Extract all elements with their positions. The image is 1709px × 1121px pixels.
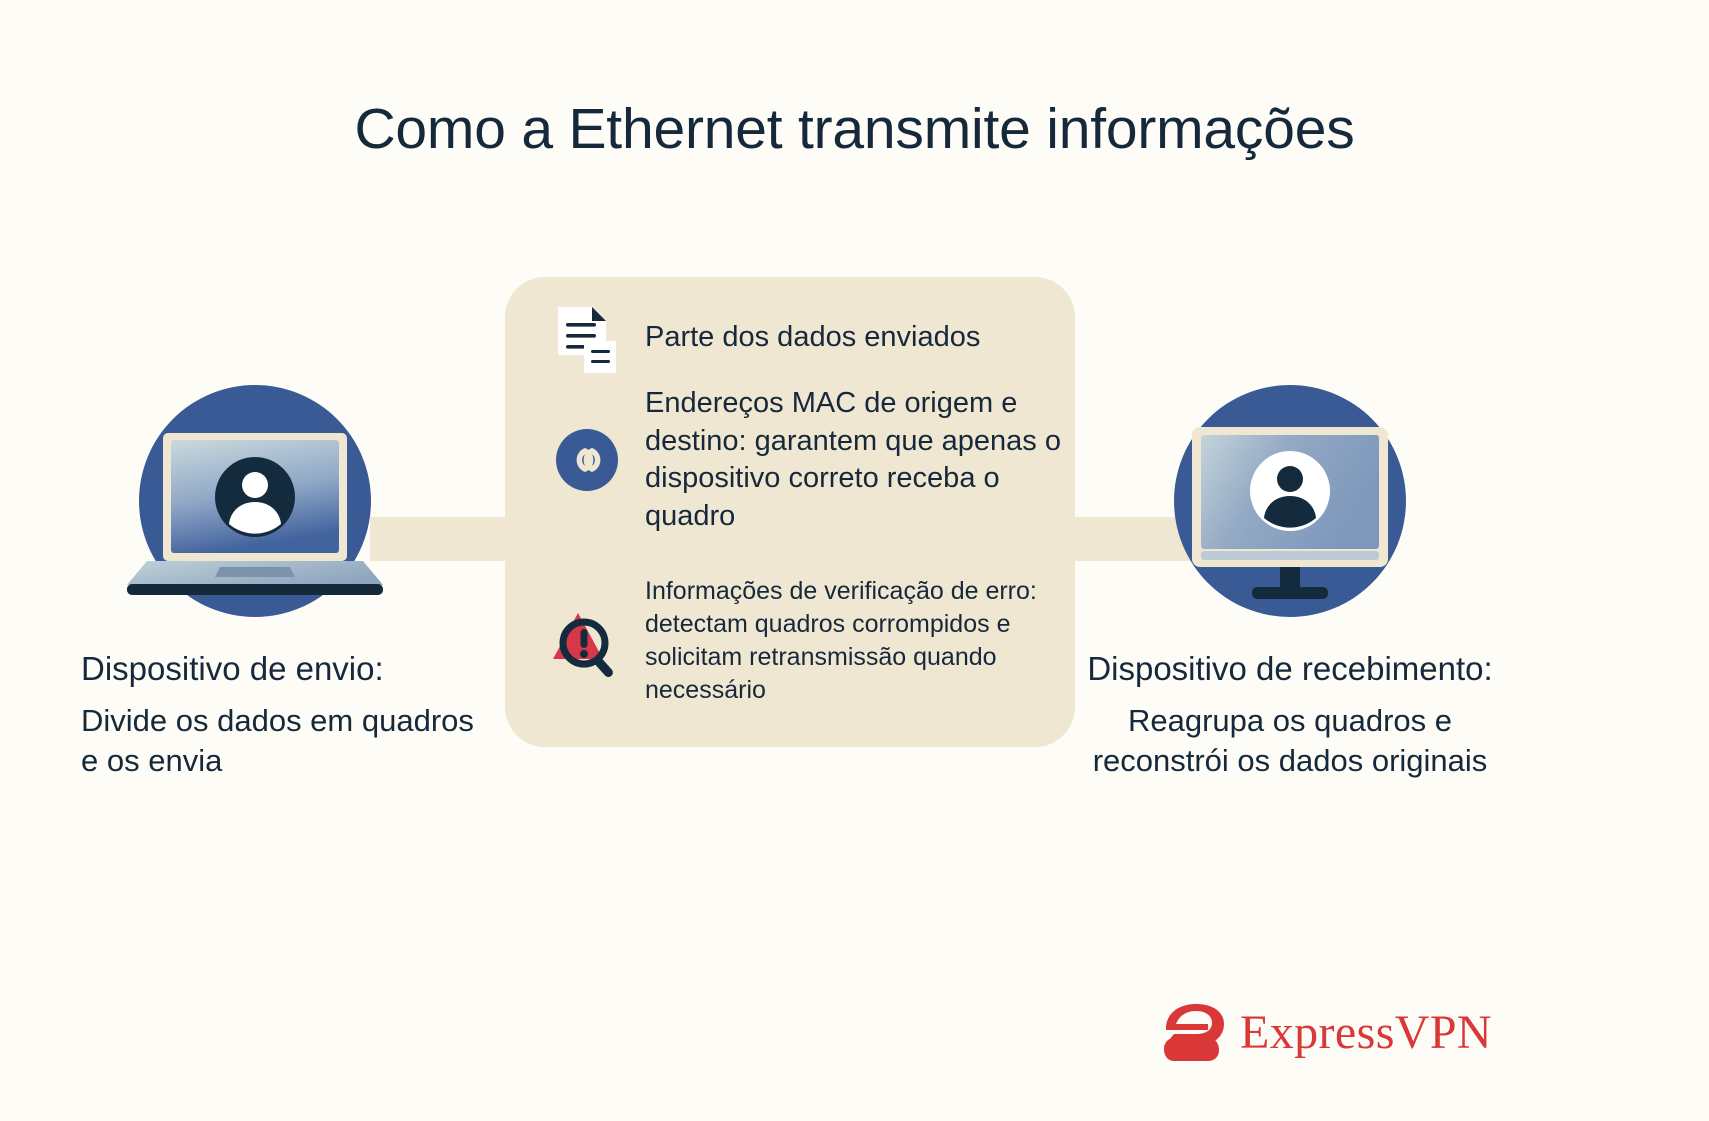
receiving-device-body: Reagrupa os quadros e reconstrói os dado…	[1060, 701, 1520, 780]
chain-link-icon	[551, 427, 623, 493]
receiving-device-heading: Dispositivo de recebimento:	[1060, 648, 1520, 689]
monitor-user-icon	[1160, 385, 1420, 620]
expressvpn-wordmark: ExpressVPN	[1240, 1009, 1492, 1057]
frame-item-data-text: Parte dos dados enviados	[645, 305, 980, 355]
frame-item-error: Informações de verificação de erro: dete…	[551, 575, 1061, 707]
frame-item-error-text: Informações de verificação de erro: dete…	[645, 575, 1061, 707]
infographic-canvas: Como a Ethernet transmite informações	[0, 0, 1709, 1121]
expressvpn-e-mark	[1160, 1002, 1226, 1064]
expressvpn-logo: ExpressVPN	[1160, 1002, 1492, 1064]
frame-item-data: Parte dos dados enviados	[551, 305, 1051, 377]
sending-device-group: Dispositivo de envio: Divide os dados em…	[25, 385, 485, 781]
laptop-user-icon	[125, 385, 385, 620]
error-magnifier-icon	[551, 603, 623, 679]
frame-item-mac-text: Endereços MAC de origem e destino: garan…	[645, 385, 1061, 536]
sending-device-heading: Dispositivo de envio:	[25, 648, 485, 689]
frame-item-mac: Endereços MAC de origem e destino: garan…	[551, 385, 1061, 536]
sending-device-illustration	[25, 385, 485, 620]
receiving-device-group: Dispositivo de recebimento: Reagrupa os …	[1060, 385, 1520, 781]
ethernet-frame-card: Parte dos dados enviados Endereços MAC d…	[505, 277, 1075, 747]
page-title: Como a Ethernet transmite informações	[0, 98, 1709, 161]
document-pages-icon	[551, 305, 623, 377]
receiving-device-illustration	[1060, 385, 1520, 620]
sending-device-body: Divide os dados em quadros e os envia	[25, 701, 485, 780]
